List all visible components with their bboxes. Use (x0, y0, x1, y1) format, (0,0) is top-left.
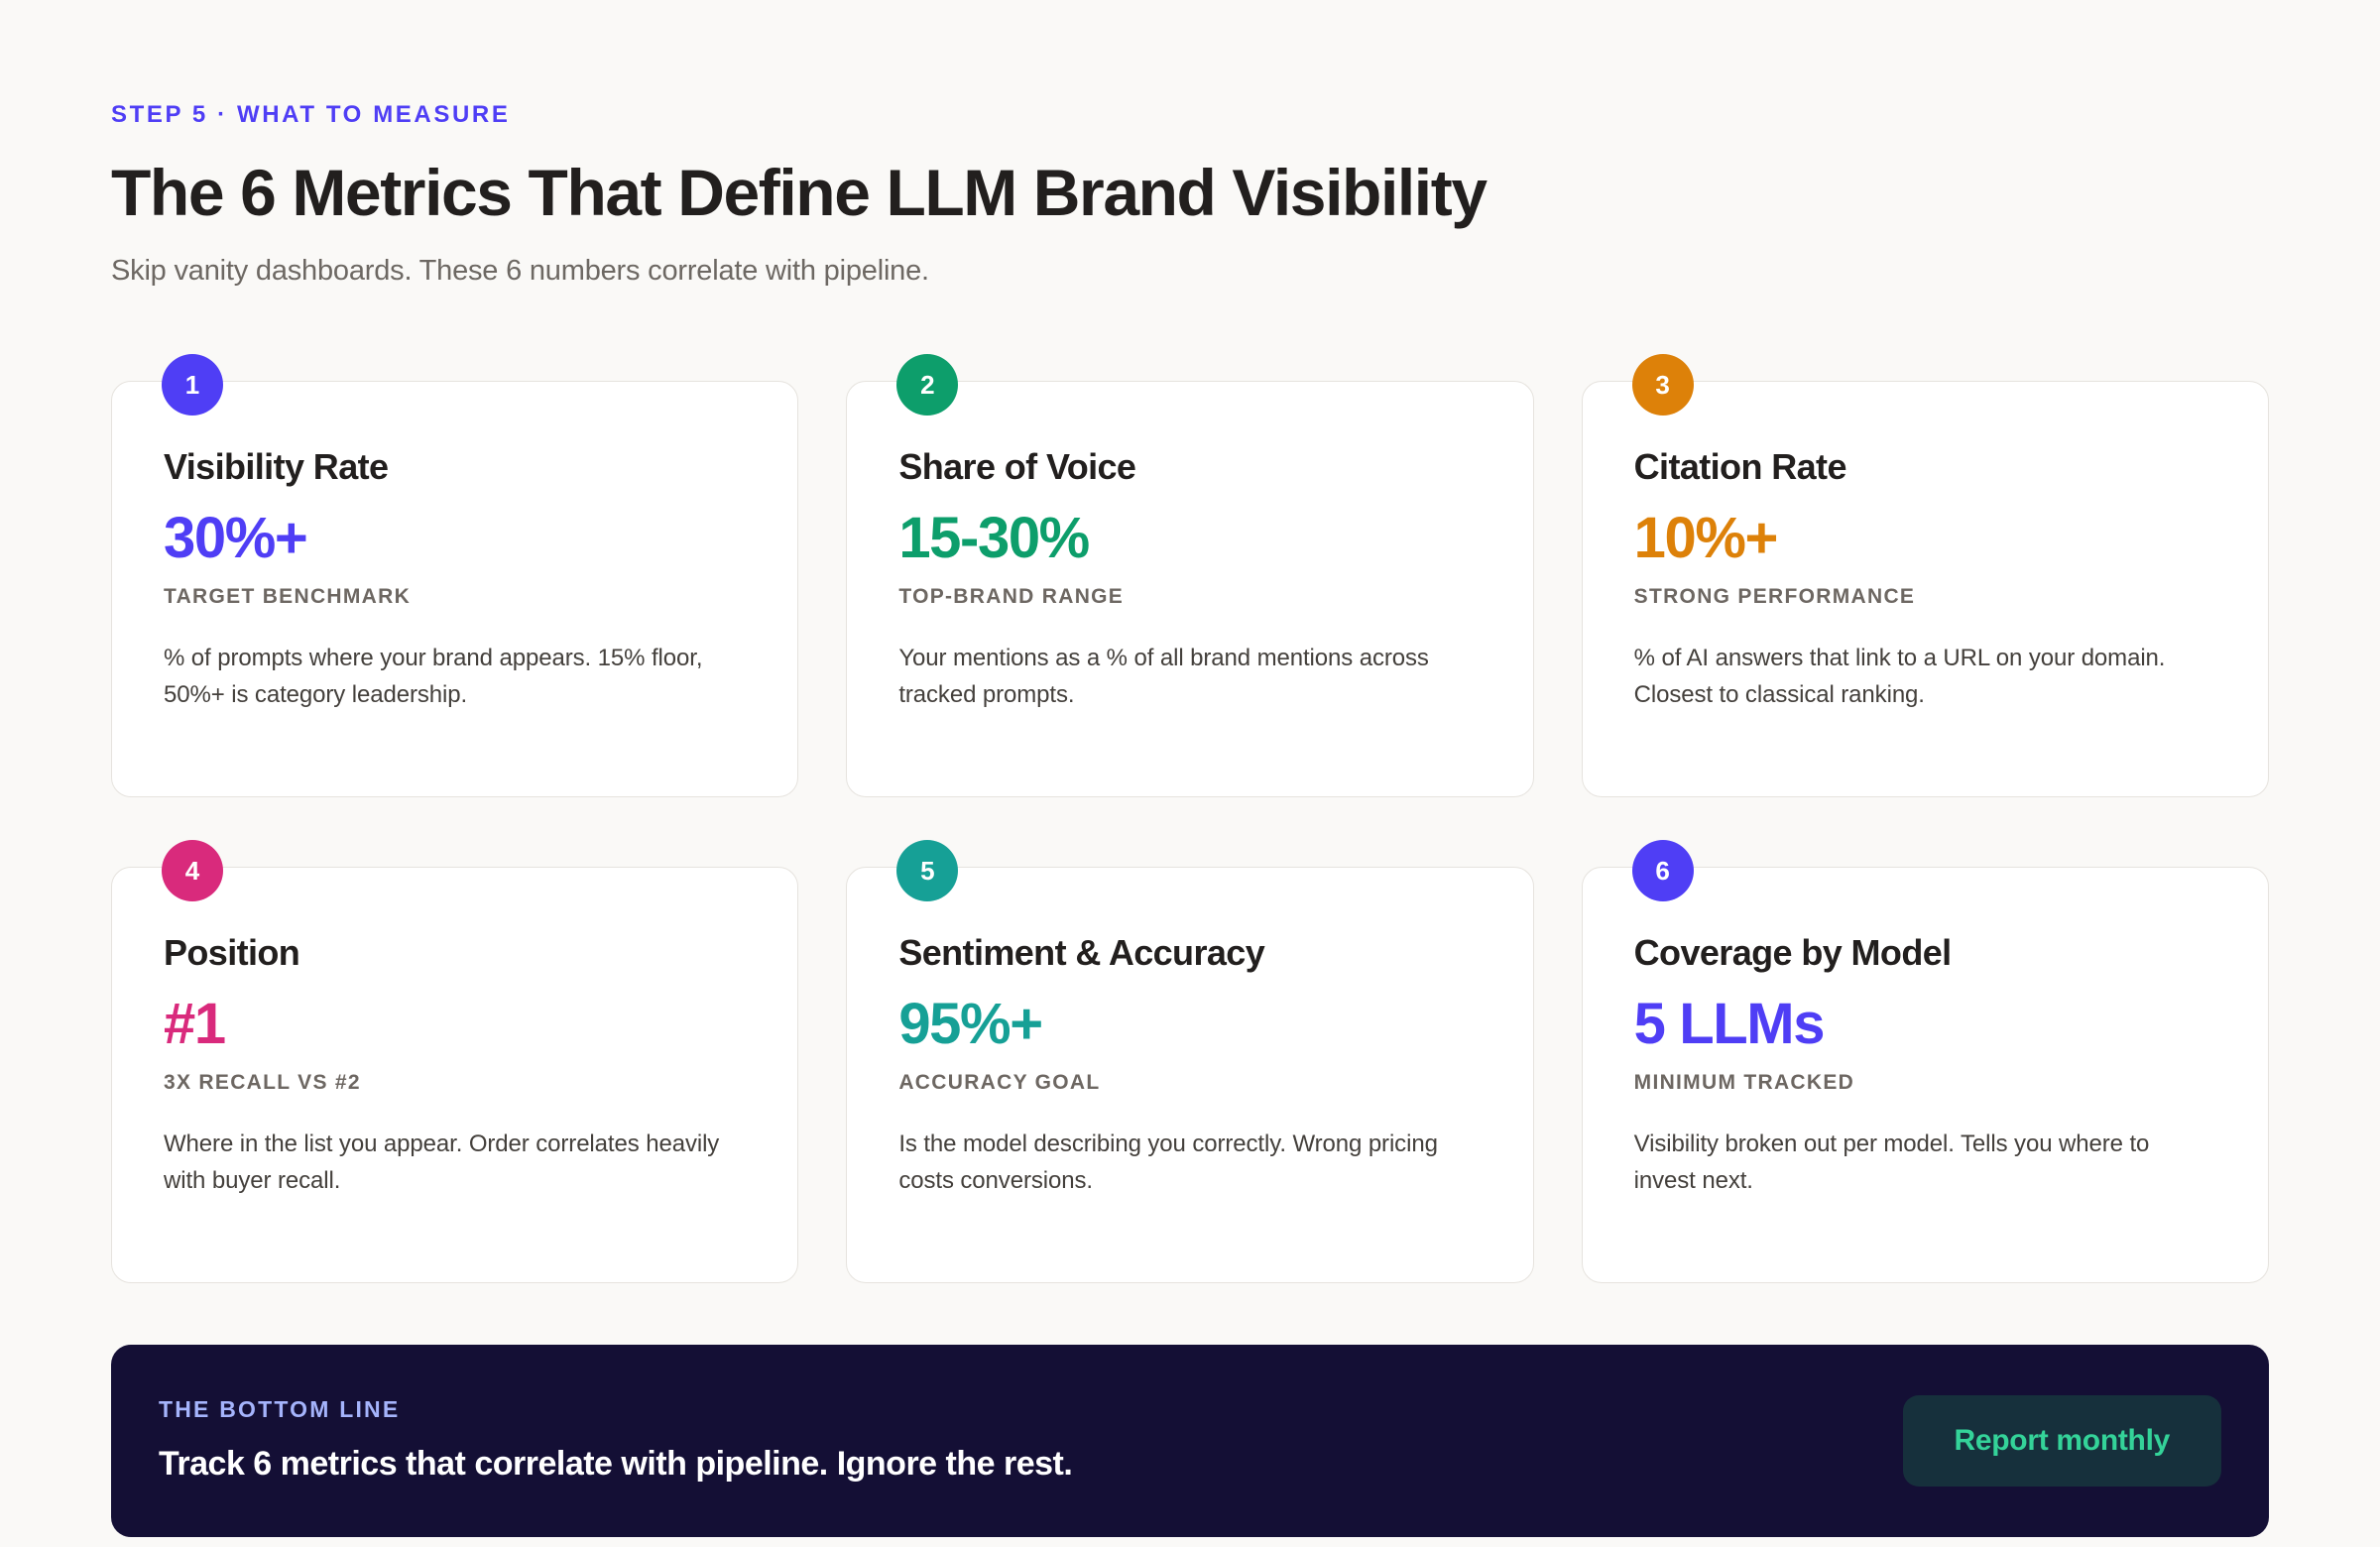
metric-card-3[interactable]: Citation Rate 10%+ STRONG PERFORMANCE % … (1582, 381, 2269, 797)
metric-card-wrapper-6: 6 Coverage by Model 5 LLMs MINIMUM TRACK… (1582, 840, 2269, 1283)
metric-value: 15-30% (898, 509, 1481, 569)
metric-title: Coverage by Model (1634, 933, 2216, 973)
bottom-line-banner: THE BOTTOM LINE Track 6 metrics that cor… (111, 1345, 2269, 1537)
metric-value: 10%+ (1634, 509, 2216, 569)
step-eyebrow: STEP 5 · WHAT TO MEASURE (111, 103, 2269, 127)
metric-caption: MINIMUM TRACKED (1634, 1072, 2216, 1093)
banner-eyebrow: THE BOTTOM LINE (159, 1398, 1072, 1421)
metric-title: Position (164, 933, 746, 973)
metric-caption: 3X RECALL VS #2 (164, 1072, 746, 1093)
metric-title: Share of Voice (898, 447, 1481, 487)
metric-card-wrapper-5: 5 Sentiment & Accuracy 95%+ ACCURACY GOA… (846, 840, 1533, 1283)
metric-description: % of prompts where your brand appears. 1… (164, 641, 746, 713)
page-subtitle: Skip vanity dashboards. These 6 numbers … (111, 253, 2269, 291)
page-title: The 6 Metrics That Define LLM Brand Visi… (111, 159, 2269, 227)
metric-card-wrapper-1: 1 Visibility Rate 30%+ TARGET BENCHMARK … (111, 354, 798, 797)
metric-value: 95%+ (898, 995, 1481, 1055)
metric-badge-3: 3 (1632, 354, 1694, 416)
metric-card-wrapper-2: 2 Share of Voice 15-30% TOP-BRAND RANGE … (846, 354, 1533, 797)
infographic-page: STEP 5 · WHAT TO MEASURE The 6 Metrics T… (0, 0, 2380, 1547)
metric-card-1[interactable]: Visibility Rate 30%+ TARGET BENCHMARK % … (111, 381, 798, 797)
metric-badge-6: 6 (1632, 840, 1694, 901)
metric-title: Sentiment & Accuracy (898, 933, 1481, 973)
page-header: STEP 5 · WHAT TO MEASURE The 6 Metrics T… (111, 0, 2269, 291)
metrics-grid: 1 Visibility Rate 30%+ TARGET BENCHMARK … (111, 354, 2269, 1283)
metric-card-2[interactable]: Share of Voice 15-30% TOP-BRAND RANGE Yo… (846, 381, 1533, 797)
report-monthly-button[interactable]: Report monthly (1903, 1395, 2221, 1487)
metric-description: Where in the list you appear. Order corr… (164, 1127, 746, 1199)
metric-card-5[interactable]: Sentiment & Accuracy 95%+ ACCURACY GOAL … (846, 867, 1533, 1283)
metric-badge-1: 1 (162, 354, 223, 416)
metric-caption: TOP-BRAND RANGE (898, 586, 1481, 607)
metric-card-4[interactable]: Position #1 3X RECALL VS #2 Where in the… (111, 867, 798, 1283)
metric-description: Is the model describing you correctly. W… (898, 1127, 1481, 1199)
metric-card-6[interactable]: Coverage by Model 5 LLMs MINIMUM TRACKED… (1582, 867, 2269, 1283)
metric-value: 30%+ (164, 509, 746, 569)
metric-description: Your mentions as a % of all brand mentio… (898, 641, 1481, 713)
metric-description: Visibility broken out per model. Tells y… (1634, 1127, 2216, 1199)
metric-card-wrapper-4: 4 Position #1 3X RECALL VS #2 Where in t… (111, 840, 798, 1283)
metric-badge-2: 2 (896, 354, 958, 416)
banner-text-block: THE BOTTOM LINE Track 6 metrics that cor… (159, 1398, 1072, 1484)
metric-caption: ACCURACY GOAL (898, 1072, 1481, 1093)
metric-title: Visibility Rate (164, 447, 746, 487)
metric-caption: TARGET BENCHMARK (164, 586, 746, 607)
metric-value: #1 (164, 995, 746, 1055)
metric-title: Citation Rate (1634, 447, 2216, 487)
metric-card-wrapper-3: 3 Citation Rate 10%+ STRONG PERFORMANCE … (1582, 354, 2269, 797)
metric-value: 5 LLMs (1634, 995, 2216, 1055)
metric-caption: STRONG PERFORMANCE (1634, 586, 2216, 607)
metric-badge-5: 5 (896, 840, 958, 901)
metric-description: % of AI answers that link to a URL on yo… (1634, 641, 2216, 713)
metric-badge-4: 4 (162, 840, 223, 901)
banner-headline: Track 6 metrics that correlate with pipe… (159, 1445, 1072, 1484)
